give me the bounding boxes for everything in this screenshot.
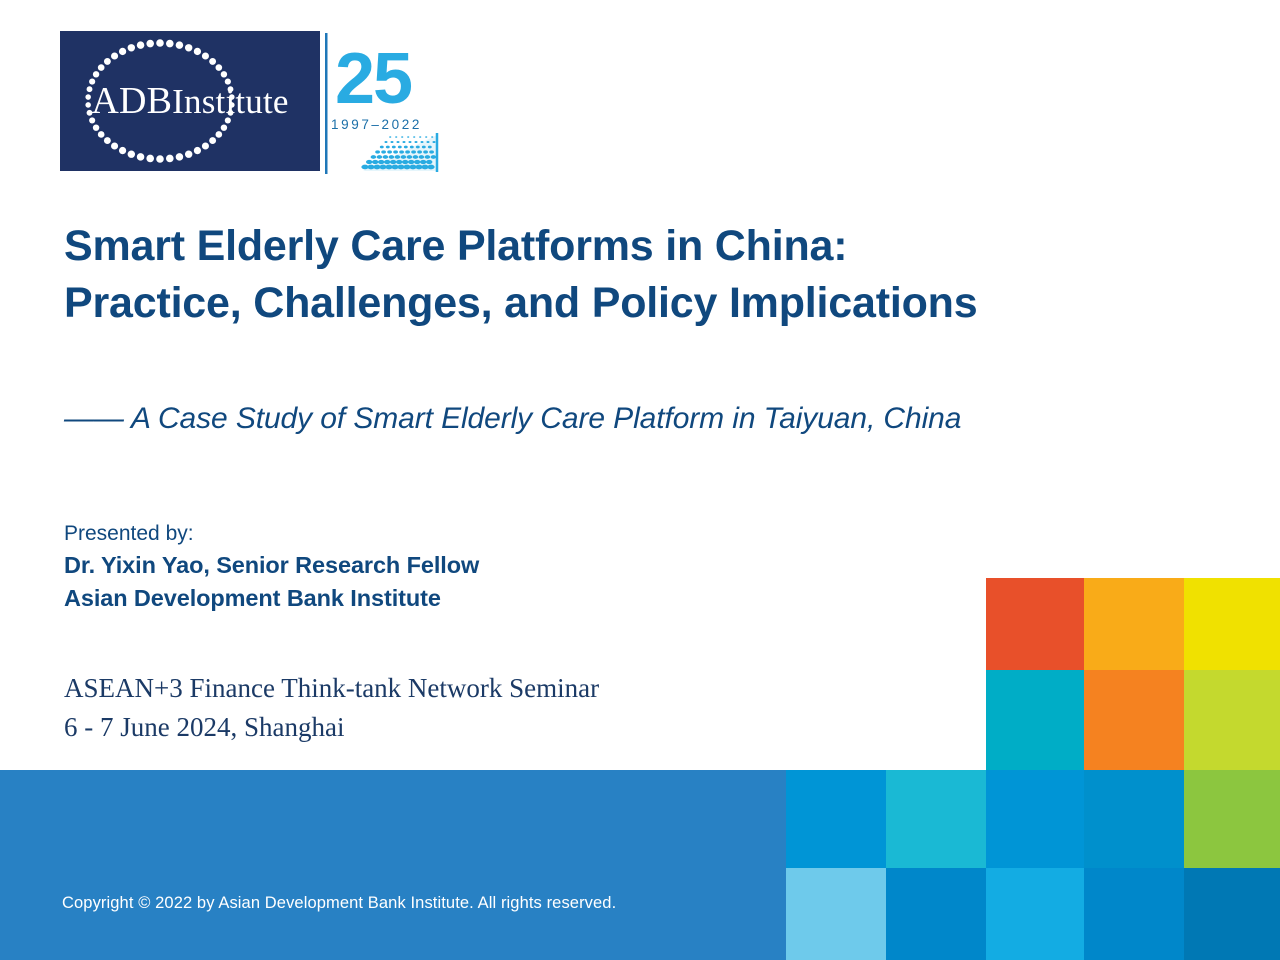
tile-green <box>1184 770 1280 868</box>
copyright-text: Copyright © 2022 by Asian Development Ba… <box>62 894 616 913</box>
tile-blue-low-2 <box>1084 868 1184 960</box>
slide-title: Smart Elderly Care Platforms in China: P… <box>64 218 1244 332</box>
slide-title-line1: Smart Elderly Care Platforms in China: <box>64 218 1244 275</box>
tile-blue-mid-1 <box>786 770 886 868</box>
adbi-logo-box: ADBInstitute <box>60 31 320 171</box>
seminar-date-location: 6 - 7 June 2024, Shanghai <box>64 708 599 747</box>
presented-by-label: Presented by: <box>64 519 479 549</box>
slide-subtitle: —— A Case Study of Smart Elderly Care Pl… <box>64 402 1244 436</box>
seminar-event: ASEAN+3 Finance Think-tank Network Semin… <box>64 669 599 708</box>
slide-canvas: Copyright © 2022 by Asian Development Ba… <box>0 0 1280 960</box>
tile-blue-mid-3 <box>1084 770 1184 868</box>
anniversary-25-icon: 25 1997–2022 <box>325 31 440 176</box>
wordmark-institute: Institute <box>172 82 289 121</box>
tile-orange <box>1084 670 1184 770</box>
tile-cyan-bright <box>986 868 1084 960</box>
tile-teal <box>986 670 1084 770</box>
tile-blue-low-1 <box>886 868 986 960</box>
adbi-logo: ADBInstitute 25 1997–2022 <box>60 31 440 176</box>
presenter-organization: Asian Development Bank Institute <box>64 582 479 615</box>
tile-blue-dark <box>1184 868 1280 960</box>
tile-sky-light <box>786 868 886 960</box>
tile-cyan-mid <box>886 770 986 868</box>
tile-lime <box>1184 670 1280 770</box>
tile-blue-mid-2 <box>986 770 1084 868</box>
tile-amber <box>1084 578 1184 670</box>
presenter-name: Dr. Yixin Yao, Senior Research Fellow <box>64 549 479 582</box>
adbi-wordmark: ADBInstitute <box>60 31 320 171</box>
tile-yellow <box>1184 578 1280 670</box>
seminar-block: ASEAN+3 Finance Think-tank Network Semin… <box>64 669 599 747</box>
slide-title-line2: Practice, Challenges, and Policy Implica… <box>64 275 1244 332</box>
svg-text:25: 25 <box>335 39 412 119</box>
svg-text:1997–2022: 1997–2022 <box>331 117 422 132</box>
wordmark-adb: ADB <box>91 80 172 122</box>
tile-red <box>986 578 1084 670</box>
presenter-block: Presented by: Dr. Yixin Yao, Senior Rese… <box>64 519 479 616</box>
